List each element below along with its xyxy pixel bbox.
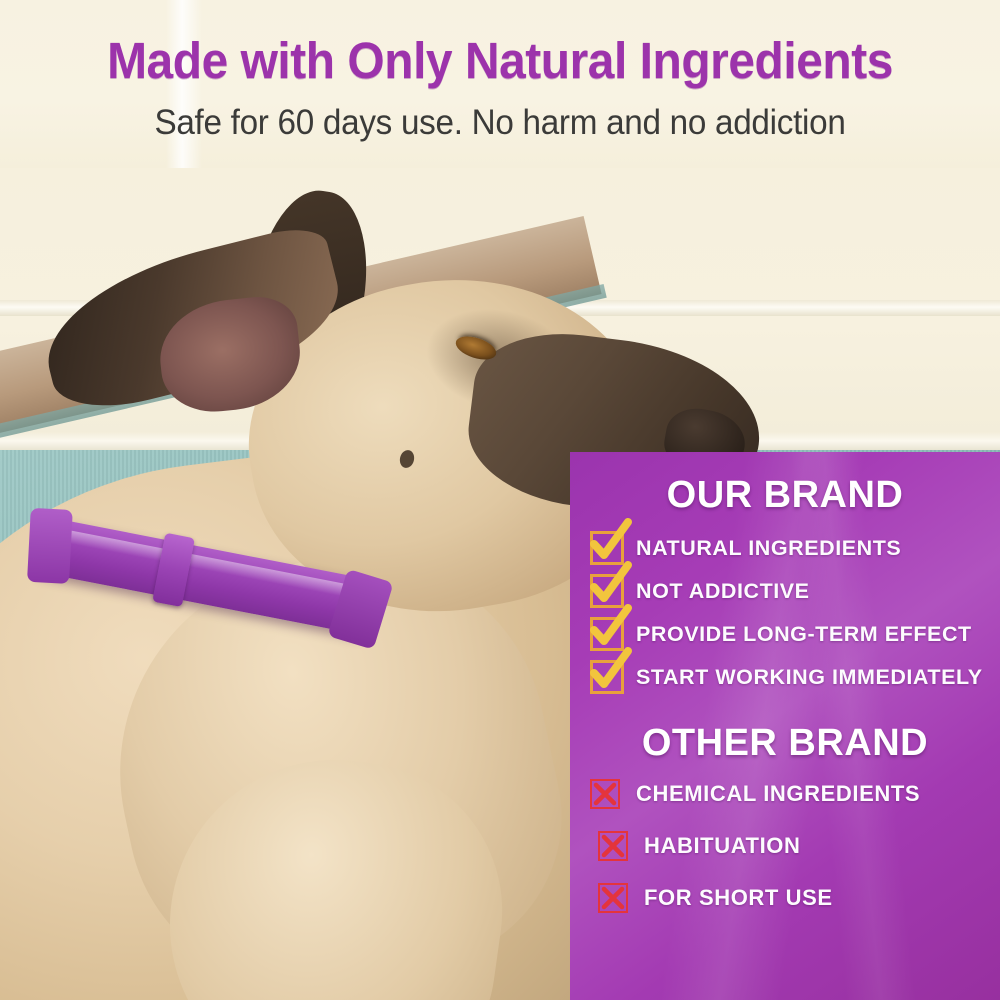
- cross-icon: [598, 831, 628, 861]
- check-icon: [590, 617, 624, 651]
- page-subtitle: Safe for 60 days use. No harm and no add…: [25, 103, 975, 143]
- check-icon: [590, 574, 624, 608]
- check-icon: [590, 531, 624, 565]
- list-item: PROVIDE LONG-TERM EFFECT: [570, 617, 1000, 651]
- other-brand-title: OTHER BRAND: [570, 722, 1000, 765]
- list-item: NATURAL INGREDIENTS: [570, 531, 1000, 565]
- our-brand-title: OUR BRAND: [570, 474, 1000, 517]
- cross-icon: [590, 779, 620, 809]
- list-item: HABITUATION: [570, 831, 1000, 861]
- collar-keeper-loop: [152, 533, 195, 607]
- list-item: FOR SHORT USE: [570, 883, 1000, 913]
- list-item-label: PROVIDE LONG-TERM EFFECT: [636, 622, 972, 647]
- list-item: NOT ADDICTIVE: [570, 574, 1000, 608]
- check-icon: [590, 660, 624, 694]
- comparison-panel: OUR BRAND NATURAL INGREDIENTS NOT ADDICT…: [570, 452, 1000, 1000]
- ad-canvas: Made with Only Natural Ingredients Safe …: [0, 0, 1000, 1000]
- list-item-label: NATURAL INGREDIENTS: [636, 536, 901, 561]
- cross-icon: [598, 883, 628, 913]
- list-item-label: START WORKING IMMEDIATELY: [636, 665, 983, 690]
- list-item-label: CHEMICAL INGREDIENTS: [636, 781, 920, 807]
- list-item: CHEMICAL INGREDIENTS: [570, 779, 1000, 809]
- page-title: Made with Only Natural Ingredients: [30, 31, 970, 90]
- list-item-label: NOT ADDICTIVE: [636, 579, 810, 604]
- our-brand-list: NATURAL INGREDIENTS NOT ADDICTIVE PROVID…: [570, 531, 1000, 694]
- other-brand-list: CHEMICAL INGREDIENTS HABITUATION FOR SHO…: [570, 779, 1000, 913]
- list-item-label: HABITUATION: [644, 833, 801, 859]
- collar-end-left: [27, 508, 73, 584]
- list-item: START WORKING IMMEDIATELY: [570, 660, 1000, 694]
- header-band: Made with Only Natural Ingredients Safe …: [0, 0, 1000, 168]
- list-item-label: FOR SHORT USE: [644, 885, 833, 911]
